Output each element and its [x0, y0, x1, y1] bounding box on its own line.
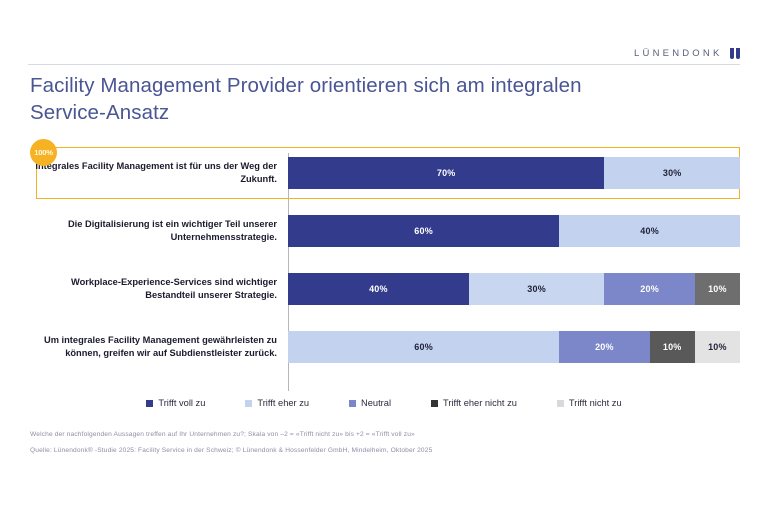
segment-value-label: 10%: [708, 342, 727, 352]
slide: LÜNENDONK Facility Management Provider o…: [0, 0, 768, 512]
segment-value-label: 70%: [437, 168, 456, 178]
page-title: Facility Management Provider orientieren…: [30, 72, 630, 126]
segment-value-label: 60%: [414, 342, 433, 352]
chart-bar: 60%20%10%10%: [288, 331, 740, 363]
chart-bar-segment[interactable]: 40%: [288, 273, 469, 305]
chart-bar-segment[interactable]: 30%: [469, 273, 605, 305]
chart-bar-segment[interactable]: 60%: [288, 215, 559, 247]
segment-value-label: 10%: [663, 342, 682, 352]
legend-item[interactable]: Trifft nicht zu: [557, 398, 622, 408]
chart-bar-segment[interactable]: 20%: [559, 331, 649, 363]
chart-bar-segment[interactable]: 30%: [604, 157, 740, 189]
legend-label: Trifft eher zu: [257, 398, 309, 408]
legend-swatch-icon: [146, 400, 153, 407]
segment-value-label: 60%: [414, 226, 433, 236]
segment-value-label: 30%: [527, 284, 546, 294]
footer-question: Welche der nachfolgenden Aussagen treffe…: [30, 430, 730, 440]
chart-bar: 40%30%20%10%: [288, 273, 740, 305]
segment-value-label: 20%: [640, 284, 659, 294]
segment-value-label: 20%: [595, 342, 614, 352]
legend-item[interactable]: Neutral: [349, 398, 391, 408]
chart-bar-segment[interactable]: 40%: [559, 215, 740, 247]
chart-row: Die Digitalisierung ist ein wichtiger Te…: [28, 208, 740, 254]
chart-row: Workplace-Experience-Services sind wicht…: [28, 266, 740, 312]
stacked-bar-chart: 100%Integrales Facility Management ist f…: [28, 150, 740, 395]
chart-row: Integrales Facility Management ist für u…: [28, 150, 740, 196]
legend-item[interactable]: Trifft voll zu: [146, 398, 205, 408]
legend-label: Neutral: [361, 398, 391, 408]
legend-swatch-icon: [349, 400, 356, 407]
legend-item[interactable]: Trifft eher nicht zu: [431, 398, 517, 408]
highlight-badge-value: 100%: [34, 148, 53, 157]
segment-value-label: 10%: [708, 284, 727, 294]
chart-row-label: Workplace-Experience-Services sind wicht…: [28, 276, 288, 302]
chart-bar-segment[interactable]: 60%: [288, 331, 559, 363]
legend-item[interactable]: Trifft eher zu: [245, 398, 309, 408]
segment-value-label: 40%: [369, 284, 388, 294]
legend-label: Trifft eher nicht zu: [443, 398, 517, 408]
chart-bar-segment[interactable]: 70%: [288, 157, 604, 189]
chart-bar: 70%30%: [288, 157, 740, 189]
chart-row-label: Die Digitalisierung ist ein wichtiger Te…: [28, 218, 288, 244]
legend-swatch-icon: [557, 400, 564, 407]
legend-swatch-icon: [431, 400, 438, 407]
chart-legend: Trifft voll zuTrifft eher zuNeutralTriff…: [28, 398, 740, 408]
segment-value-label: 40%: [640, 226, 659, 236]
chart-row: Um integrales Facility Management gewähr…: [28, 324, 740, 370]
chart-bar-segment[interactable]: 20%: [604, 273, 694, 305]
legend-swatch-icon: [245, 400, 252, 407]
highlight-badge: 100%: [30, 139, 57, 166]
brand-name: LÜNENDONK: [634, 48, 722, 59]
chart-bar: 60%40%: [288, 215, 740, 247]
footer-source: Quelle: Lünendonk® -Studie 2025: Facilit…: [30, 446, 730, 456]
brand-logo: LÜNENDONK: [634, 48, 740, 59]
quote-mark-icon: [730, 48, 741, 59]
chart-bar-segment[interactable]: 10%: [650, 331, 695, 363]
chart-bar-segment[interactable]: 10%: [695, 331, 740, 363]
chart-bar-segment[interactable]: 10%: [695, 273, 740, 305]
header-divider: [28, 64, 740, 65]
legend-label: Trifft voll zu: [158, 398, 205, 408]
chart-row-label: Integrales Facility Management ist für u…: [28, 160, 288, 186]
segment-value-label: 30%: [663, 168, 682, 178]
footer-notes: Welche der nachfolgenden Aussagen treffe…: [30, 430, 730, 462]
chart-row-label: Um integrales Facility Management gewähr…: [28, 334, 288, 360]
legend-label: Trifft nicht zu: [569, 398, 622, 408]
